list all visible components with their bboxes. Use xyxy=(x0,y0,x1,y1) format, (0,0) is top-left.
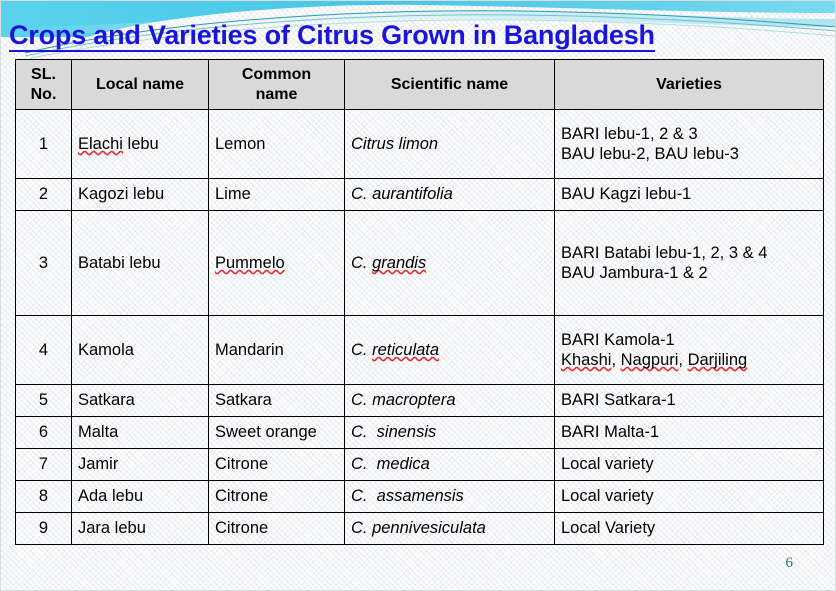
page-title: Crops and Varieties of Citrus Grown in B… xyxy=(9,21,655,52)
cell-sl-no: 9 xyxy=(16,513,72,545)
presentation-slide: Crops and Varieties of Citrus Grown in B… xyxy=(0,0,836,591)
cell-scientific-name: C. assamensis xyxy=(345,481,555,513)
cell-scientific-name: C. pennivesiculata xyxy=(345,513,555,545)
cell-local-name: Kagozi lebu xyxy=(72,179,209,211)
cell-local-name: Kamola xyxy=(72,316,209,385)
cell-varieties: BARI Malta-1 xyxy=(555,417,824,449)
cell-common-name: Citrone xyxy=(209,513,345,545)
cell-common-name: Citrone xyxy=(209,449,345,481)
cell-scientific-name: C. macroptera xyxy=(345,385,555,417)
cell-local-name: Ada lebu xyxy=(72,481,209,513)
table-row: 4KamolaMandarinC. reticulataBARI Kamola-… xyxy=(16,316,824,385)
citrus-varieties-table: SL.No. Local name Commonname Scientific … xyxy=(15,59,824,545)
table-header: SL.No. Local name Commonname Scientific … xyxy=(16,60,824,110)
table-row: 6MaltaSweet orangeC. sinensisBARI Malta-… xyxy=(16,417,824,449)
cell-local-name: Malta xyxy=(72,417,209,449)
table-row: 3Batabi lebuPummeloC. grandisBARI Batabi… xyxy=(16,211,824,316)
cell-scientific-name: C. sinensis xyxy=(345,417,555,449)
cell-scientific-name: C. reticulata xyxy=(345,316,555,385)
table-row: 8Ada lebuCitroneC. assamensisLocal varie… xyxy=(16,481,824,513)
page-number: 6 xyxy=(786,555,794,572)
cell-common-name: Pummelo xyxy=(209,211,345,316)
cell-common-name: Sweet orange xyxy=(209,417,345,449)
cell-common-name: Citrone xyxy=(209,481,345,513)
cell-local-name: Satkara xyxy=(72,385,209,417)
cell-varieties: BARI Kamola-1Khashi, Nagpuri, Darjiling xyxy=(555,316,824,385)
cell-varieties: Local variety xyxy=(555,449,824,481)
cell-scientific-name: Citrus limon xyxy=(345,110,555,179)
table-body: 1Elachi lebuLemonCitrus limonBARI lebu-1… xyxy=(16,110,824,545)
cell-sl-no: 3 xyxy=(16,211,72,316)
cell-local-name: Batabi lebu xyxy=(72,211,209,316)
table-row: 1Elachi lebuLemonCitrus limonBARI lebu-1… xyxy=(16,110,824,179)
column-header-sl-no: SL.No. xyxy=(16,60,72,110)
citrus-table-container: SL.No. Local name Commonname Scientific … xyxy=(15,59,823,545)
table-header-row: SL.No. Local name Commonname Scientific … xyxy=(16,60,824,110)
title-block: Crops and Varieties of Citrus Grown in B… xyxy=(9,21,829,52)
cell-sl-no: 4 xyxy=(16,316,72,385)
table-row: 2Kagozi lebuLimeC. aurantifoliaBAU Kagzi… xyxy=(16,179,824,211)
cell-scientific-name: C. aurantifolia xyxy=(345,179,555,211)
table-row: 7JamirCitroneC. medicaLocal variety xyxy=(16,449,824,481)
column-header-local-name: Local name xyxy=(72,60,209,110)
column-header-varieties: Varieties xyxy=(555,60,824,110)
cell-common-name: Lemon xyxy=(209,110,345,179)
table-row: 5SatkaraSatkaraC. macropteraBARI Satkara… xyxy=(16,385,824,417)
cell-sl-no: 5 xyxy=(16,385,72,417)
cell-local-name: Elachi lebu xyxy=(72,110,209,179)
cell-varieties: BAU Kagzi lebu-1 xyxy=(555,179,824,211)
cell-scientific-name: C. medica xyxy=(345,449,555,481)
cell-varieties: Local variety xyxy=(555,481,824,513)
cell-sl-no: 2 xyxy=(16,179,72,211)
table-row: 9Jara lebuCitroneC. pennivesiculataLocal… xyxy=(16,513,824,545)
cell-local-name: Jara lebu xyxy=(72,513,209,545)
cell-sl-no: 6 xyxy=(16,417,72,449)
cell-sl-no: 8 xyxy=(16,481,72,513)
cell-common-name: Satkara xyxy=(209,385,345,417)
cell-common-name: Mandarin xyxy=(209,316,345,385)
cell-varieties: BARI lebu-1, 2 & 3BAU lebu-2, BAU lebu-3 xyxy=(555,110,824,179)
cell-sl-no: 1 xyxy=(16,110,72,179)
cell-local-name: Jamir xyxy=(72,449,209,481)
cell-scientific-name: C. grandis xyxy=(345,211,555,316)
cell-sl-no: 7 xyxy=(16,449,72,481)
cell-varieties: BARI Batabi lebu-1, 2, 3 & 4BAU Jambura-… xyxy=(555,211,824,316)
column-header-common-name: Commonname xyxy=(209,60,345,110)
cell-common-name: Lime xyxy=(209,179,345,211)
column-header-scientific-name: Scientific name xyxy=(345,60,555,110)
cell-varieties: Local Variety xyxy=(555,513,824,545)
cell-varieties: BARI Satkara-1 xyxy=(555,385,824,417)
